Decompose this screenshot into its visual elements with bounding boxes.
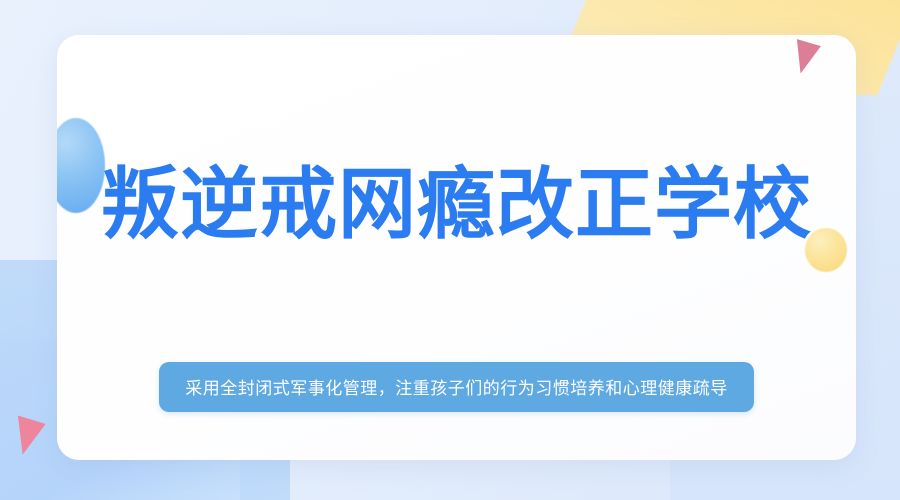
pink-triangle-top-right-icon — [788, 39, 821, 77]
promo-banner: 叛逆戒网瘾改正学校 采用全封闭式军事化管理，注重孩子们的行为习惯培养和心理健康疏… — [0, 0, 900, 500]
banner-title: 叛逆戒网瘾改正学校 — [57, 166, 856, 244]
content-card: 叛逆戒网瘾改正学校 采用全封闭式军事化管理，注重孩子们的行为习惯培养和心理健康疏… — [57, 35, 856, 460]
subtitle-container: 采用全封闭式军事化管理，注重孩子们的行为习惯培养和心理健康疏导 — [57, 362, 856, 412]
subtitle-pill: 采用全封闭式军事化管理，注重孩子们的行为习惯培养和心理健康疏导 — [159, 362, 754, 412]
